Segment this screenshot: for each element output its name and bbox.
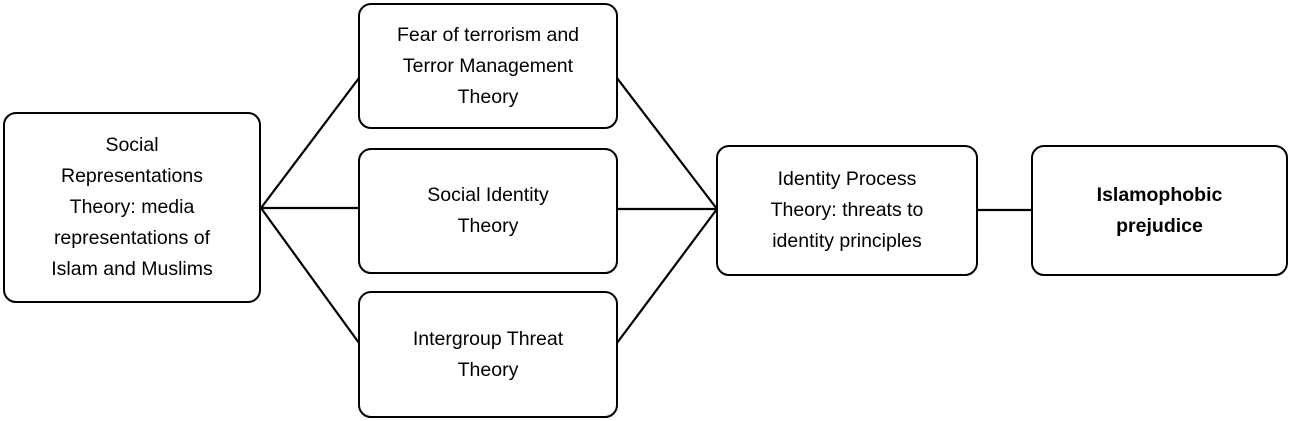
- connector-fear-terrorism-to-identity-process: [617, 78, 717, 209]
- node-fear-terrorism: Fear of terrorism and Terror Management …: [358, 3, 618, 129]
- node-social-representations: Social Representations Theory: media rep…: [3, 112, 261, 303]
- connector-intergroup-threat-to-identity-process: [617, 209, 717, 343]
- node-islamophobic-prejudice-label: Islamophobic prejudice: [1087, 180, 1233, 242]
- node-islamophobic-prejudice: Islamophobic prejudice: [1031, 145, 1288, 276]
- node-identity-process-label: Identity Process Theory: threats to iden…: [761, 164, 934, 257]
- flowchart-diagram: Social Representations Theory: media rep…: [0, 0, 1291, 421]
- node-identity-process: Identity Process Theory: threats to iden…: [716, 145, 978, 276]
- node-social-representations-label: Social Representations Theory: media rep…: [41, 130, 222, 285]
- node-social-identity-label: Social Identity Theory: [417, 180, 558, 242]
- connector-social-representations-to-intergroup-threat: [261, 208, 359, 343]
- node-social-identity: Social Identity Theory: [358, 148, 618, 274]
- node-intergroup-threat: Intergroup Threat Theory: [358, 291, 618, 418]
- connector-social-representations-to-fear-terrorism: [261, 78, 359, 208]
- node-fear-terrorism-label: Fear of terrorism and Terror Management …: [387, 20, 589, 113]
- node-intergroup-threat-label: Intergroup Threat Theory: [403, 324, 573, 386]
